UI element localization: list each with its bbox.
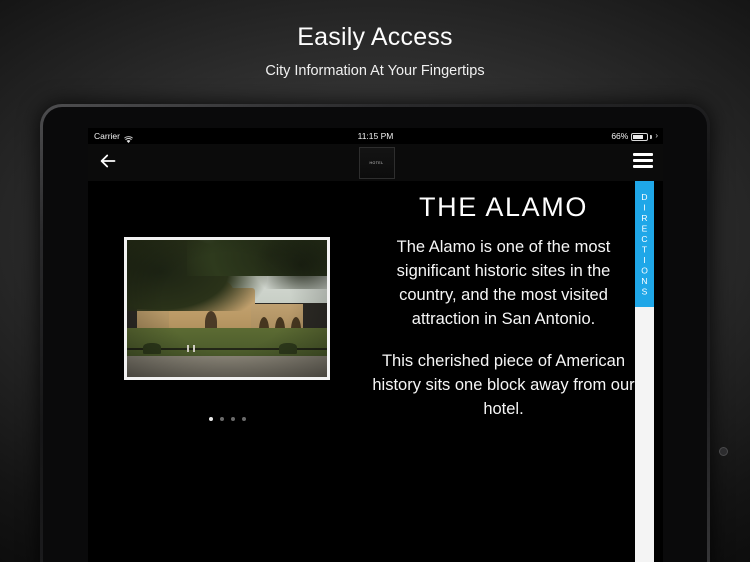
status-bar-time: 11:15 PM xyxy=(88,128,663,144)
photo-vignette xyxy=(127,240,327,377)
battery-icon xyxy=(631,133,648,141)
app-nav-bar: HOTEL xyxy=(88,144,663,182)
battery-tip-icon xyxy=(650,135,652,139)
device-screen: Carrier 11:15 PM 66% › xyxy=(88,128,663,562)
promo-header: Easily Access City Information At Your F… xyxy=(0,0,750,81)
promo-title: Easily Access xyxy=(0,22,750,52)
attraction-text-column: THE ALAMO The Alamo is one of the most s… xyxy=(356,191,651,439)
menu-line xyxy=(633,153,653,156)
attraction-paragraph-1: The Alamo is one of the most significant… xyxy=(356,235,651,331)
hamburger-menu-icon[interactable] xyxy=(633,153,653,171)
hotel-logo[interactable]: HOTEL xyxy=(359,147,395,179)
content-area: THE ALAMO The Alamo is one of the most s… xyxy=(88,181,663,562)
hotel-logo-text: HOTEL xyxy=(370,161,384,166)
promo-page: Easily Access City Information At Your F… xyxy=(0,0,750,562)
menu-line xyxy=(633,165,653,168)
battery-fill xyxy=(633,135,643,139)
directions-tab-label: DIRECTIONS xyxy=(640,192,650,297)
carousel-dot-2[interactable] xyxy=(220,417,224,421)
charging-arrow-icon: › xyxy=(655,128,658,144)
carousel-dots[interactable] xyxy=(124,417,330,421)
carousel-dot-3[interactable] xyxy=(231,417,235,421)
side-scroll-track[interactable] xyxy=(635,307,654,562)
status-bar: Carrier 11:15 PM 66% › xyxy=(88,128,663,144)
front-camera-icon xyxy=(719,447,728,456)
side-scroll-thumb[interactable] xyxy=(635,307,654,562)
battery-percent-label: 66% xyxy=(611,128,628,144)
carousel-dot-1[interactable] xyxy=(209,417,213,421)
directions-tab[interactable]: DIRECTIONS xyxy=(635,181,654,307)
menu-line xyxy=(633,159,653,162)
promo-subtitle: City Information At Your Fingertips xyxy=(0,61,750,81)
status-bar-right: 66% › xyxy=(611,128,658,144)
carousel-dot-4[interactable] xyxy=(242,417,246,421)
attraction-paragraph-2: This cherished piece of American history… xyxy=(356,349,651,421)
back-arrow-icon[interactable] xyxy=(97,152,119,174)
alamo-photo[interactable] xyxy=(124,237,330,380)
page-title: THE ALAMO xyxy=(356,191,651,223)
